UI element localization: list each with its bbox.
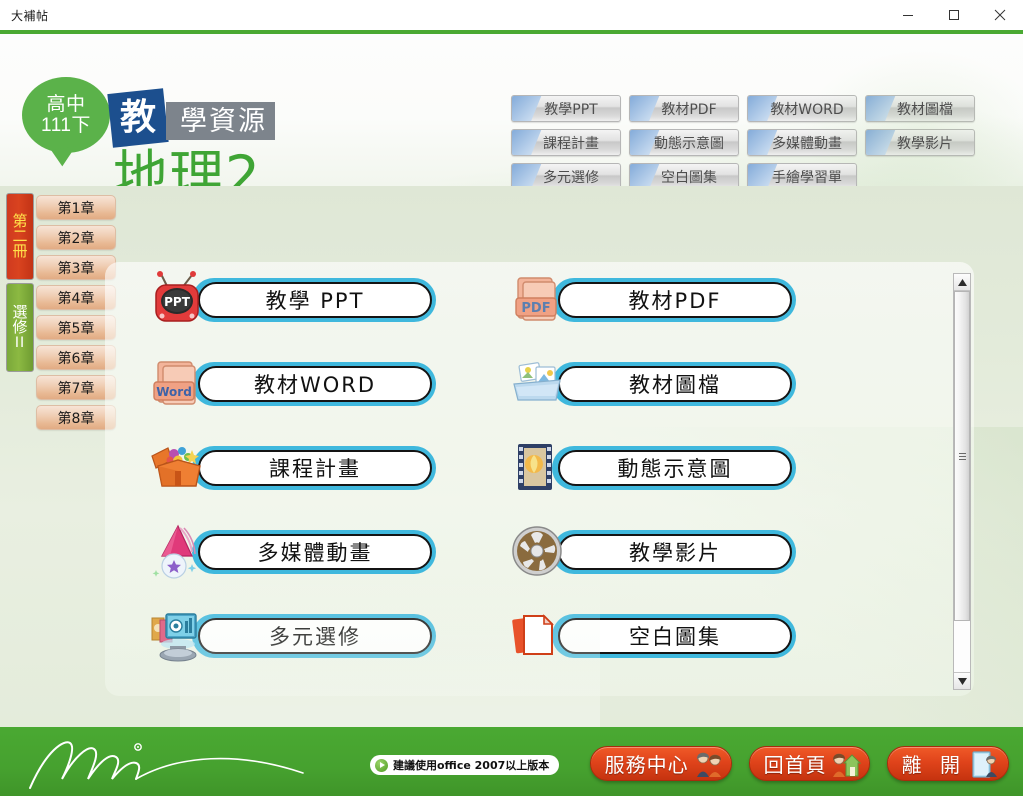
exit-label: 離 開 [902, 749, 966, 778]
quick-button-label: 動態示意圖 [644, 133, 724, 153]
resource-item-teaching-video[interactable]: 教學影片 [500, 522, 860, 582]
exit-button[interactable]: 離 開 [887, 746, 1009, 781]
resource-pill: 教材WORD [192, 362, 436, 406]
quick-button-label: 教材WORD [760, 99, 843, 119]
resource-pill: 課程計畫 [192, 446, 436, 490]
film-reel-icon [508, 522, 566, 580]
resource-row-4: 多媒體動畫 [140, 522, 860, 582]
service-center-button[interactable]: 服務中心 [590, 746, 732, 781]
subject-title: 地理2 [113, 149, 261, 186]
quick-button-label: 教學PPT [534, 99, 597, 119]
resource-row-5: 多元選修 [140, 606, 860, 666]
resource-pill: 教材PDF [552, 278, 796, 322]
resource-pill: 教學影片 [552, 530, 796, 574]
resource-label: 多元選修 [198, 618, 432, 654]
quick-button-row-2: 課程計畫 動態示意圖 多媒體動畫 教學影片 [511, 129, 1001, 156]
resource-label: 教材PDF [558, 282, 792, 318]
resource-label: 教學影片 [558, 534, 792, 570]
resource-label-banner: 學資源 [166, 102, 275, 140]
quick-button-label: 多元選修 [533, 167, 599, 187]
volume-tab-char: 修 [12, 320, 27, 335]
resource-label: 學資源 [180, 108, 267, 135]
nani-logo [18, 733, 318, 793]
resource-label: 多媒體動畫 [198, 534, 432, 570]
quick-button-multimedia-animation[interactable]: 多媒體動畫 [747, 129, 857, 156]
scrollbar-thumb[interactable] [954, 291, 970, 621]
resource-item-teaching-ppt[interactable]: 教學 PPT PPT [140, 270, 500, 330]
folder-pdf-icon: PDF [508, 270, 566, 328]
photo-tray-icon [508, 354, 566, 412]
magic-hat-wand-icon [148, 522, 206, 580]
resource-label: 教學 PPT [198, 282, 432, 318]
content-scrollbar[interactable] [953, 273, 971, 690]
sidebar-item-chapter-2[interactable]: 第2章 [36, 225, 116, 250]
resource-pill: 教材圖檔 [552, 362, 796, 406]
quick-button-material-pdf[interactable]: 教材PDF [629, 95, 739, 122]
service-center-label: 服務中心 [605, 749, 689, 778]
folder-word-icon: Word [148, 354, 206, 412]
sidebar-tab-volume-2[interactable]: 第 二 冊 [6, 193, 34, 280]
quick-button-label: 空白圖集 [651, 167, 717, 187]
svg-text:PPT: PPT [164, 295, 191, 309]
title-bar: 大補帖 [0, 0, 1023, 30]
resource-row-1: 教學 PPT PPT [140, 270, 860, 330]
quick-button-label: 教材圖檔 [887, 99, 953, 119]
resource-item-blank-gallery[interactable]: 空白圖集 [500, 606, 860, 666]
resource-label: 課程計畫 [198, 450, 432, 486]
resource-row-3: 課程計畫 [140, 438, 860, 498]
quick-button-row-1: 教學PPT 教材PDF 教材WORD 教材圖檔 [511, 95, 1001, 122]
grade-badge-line1: 高中 [46, 94, 85, 115]
quick-button-course-plan[interactable]: 課程計畫 [511, 129, 621, 156]
resource-item-material-pdf[interactable]: 教材PDF PDF [500, 270, 860, 330]
quick-button-handdrawn-worksheet[interactable]: 手繪學習單 [747, 163, 857, 186]
sidebar-item-chapter-3[interactable]: 第3章 [36, 255, 116, 280]
exit-door-icon [970, 750, 1000, 778]
svg-text:Word: Word [156, 385, 192, 399]
scrollbar-track[interactable] [954, 291, 970, 672]
resource-item-course-plan[interactable]: 課程計畫 [140, 438, 500, 498]
quick-button-teaching-video[interactable]: 教學影片 [865, 129, 975, 156]
quick-button-material-word[interactable]: 教材WORD [747, 95, 857, 122]
blank-pages-icon [508, 606, 566, 664]
quick-button-diverse-elective[interactable]: 多元選修 [511, 163, 621, 186]
teaching-mark-char: 教 [120, 100, 156, 136]
resource-label: 教材圖檔 [558, 366, 792, 402]
sidebar-item-chapter-7[interactable]: 第7章 [36, 375, 116, 400]
projector-screen-icon [148, 606, 206, 664]
footer-button-group: 服務中心 回首頁 [590, 746, 1009, 781]
window-title: 大補帖 [0, 7, 49, 24]
resource-row-2: 教材WORD Word 教材圖檔 [140, 354, 860, 414]
scroll-up-button[interactable] [954, 274, 970, 291]
resource-pill: 多媒體動畫 [192, 530, 436, 574]
resource-pill: 多元選修 [192, 614, 436, 658]
grade-badge-line2: 111下 [41, 115, 91, 136]
resource-item-animated-diagram[interactable]: 動態示意圖 [500, 438, 860, 498]
scroll-down-button[interactable] [954, 672, 970, 689]
quick-button-grid: 教學PPT 教材PDF 教材WORD 教材圖檔 課程計畫 動態示意圖 多媒體動畫… [511, 95, 1001, 186]
resource-item-multimedia-animation[interactable]: 多媒體動畫 [140, 522, 500, 582]
resource-item-material-word[interactable]: 教材WORD Word [140, 354, 500, 414]
office-note-text: 建議使用office 2007以上版本 [393, 757, 549, 773]
maximize-button[interactable] [931, 0, 977, 30]
treasure-box-icon [148, 438, 206, 496]
tv-ppt-icon: PPT [148, 270, 206, 328]
content-area: 第 二 冊 選 修 II 第1章 第2章 第3章 第4章 第5章 第6章 第7章… [0, 186, 1023, 727]
resource-pill: 動態示意圖 [552, 446, 796, 490]
teaching-mark-icon: 教 [107, 88, 168, 148]
quick-button-blank-gallery[interactable]: 空白圖集 [629, 163, 739, 186]
sidebar-item-chapter-4[interactable]: 第4章 [36, 285, 116, 310]
sidebar-item-chapter-6[interactable]: 第6章 [36, 345, 116, 370]
quick-button-label: 手繪學習單 [762, 167, 842, 187]
close-button[interactable] [977, 0, 1023, 30]
home-icon [831, 750, 861, 778]
window-controls [885, 0, 1023, 30]
volume-tab-char: II [15, 336, 25, 350]
volume-tab-char: 冊 [12, 244, 27, 259]
volume-tab-group: 第 二 冊 選 修 II [6, 193, 34, 372]
resource-item-material-images[interactable]: 教材圖檔 [500, 354, 860, 414]
resource-label: 空白圖集 [558, 618, 792, 654]
resource-pill: 教學 PPT [192, 278, 436, 322]
play-icon [375, 759, 388, 772]
sidebar-tab-elective-2[interactable]: 選 修 II [6, 283, 34, 372]
scrollbar-grip-icon [959, 451, 966, 462]
sidebar-item-chapter-8[interactable]: 第8章 [36, 405, 116, 430]
resource-pill: 空白圖集 [552, 614, 796, 658]
resource-label: 教材WORD [198, 366, 432, 402]
quick-button-label: 教材PDF [651, 99, 716, 119]
filmstrip-icon [508, 438, 566, 496]
resource-label: 動態示意圖 [558, 450, 792, 486]
quick-button-label: 多媒體動畫 [762, 133, 842, 153]
office-version-note: 建議使用office 2007以上版本 [370, 755, 559, 775]
grade-badge: 高中 111下 [22, 77, 110, 153]
svg-text:PDF: PDF [521, 301, 550, 316]
quick-button-row-3: 多元選修 空白圖集 手繪學習單 [511, 163, 1001, 186]
service-people-icon [693, 750, 723, 778]
quick-button-label: 課程計畫 [533, 133, 599, 153]
resource-button-grid: 教學 PPT PPT [140, 270, 860, 690]
quick-button-label: 教學影片 [887, 133, 953, 153]
minimize-button[interactable] [885, 0, 931, 30]
sidebar-item-chapter-1[interactable]: 第1章 [36, 195, 116, 220]
quick-button-material-images[interactable]: 教材圖檔 [865, 95, 975, 122]
quick-button-animated-diagram[interactable]: 動態示意圖 [629, 129, 739, 156]
application-window: 大補帖 高中 111下 教 學資源 地理2 教學P [0, 0, 1023, 796]
quick-button-teaching-ppt[interactable]: 教學PPT [511, 95, 621, 122]
header-banner: 高中 111下 教 學資源 地理2 教學PPT 教材PDF 教材WORD 教材圖… [0, 34, 1023, 186]
chapter-list: 第1章 第2章 第3章 第4章 第5章 第6章 第7章 第8章 [36, 195, 116, 435]
resource-item-diverse-elective[interactable]: 多元選修 [140, 606, 500, 666]
home-label: 回首頁 [764, 749, 827, 778]
home-button[interactable]: 回首頁 [749, 746, 870, 781]
sidebar-item-chapter-5[interactable]: 第5章 [36, 315, 116, 340]
